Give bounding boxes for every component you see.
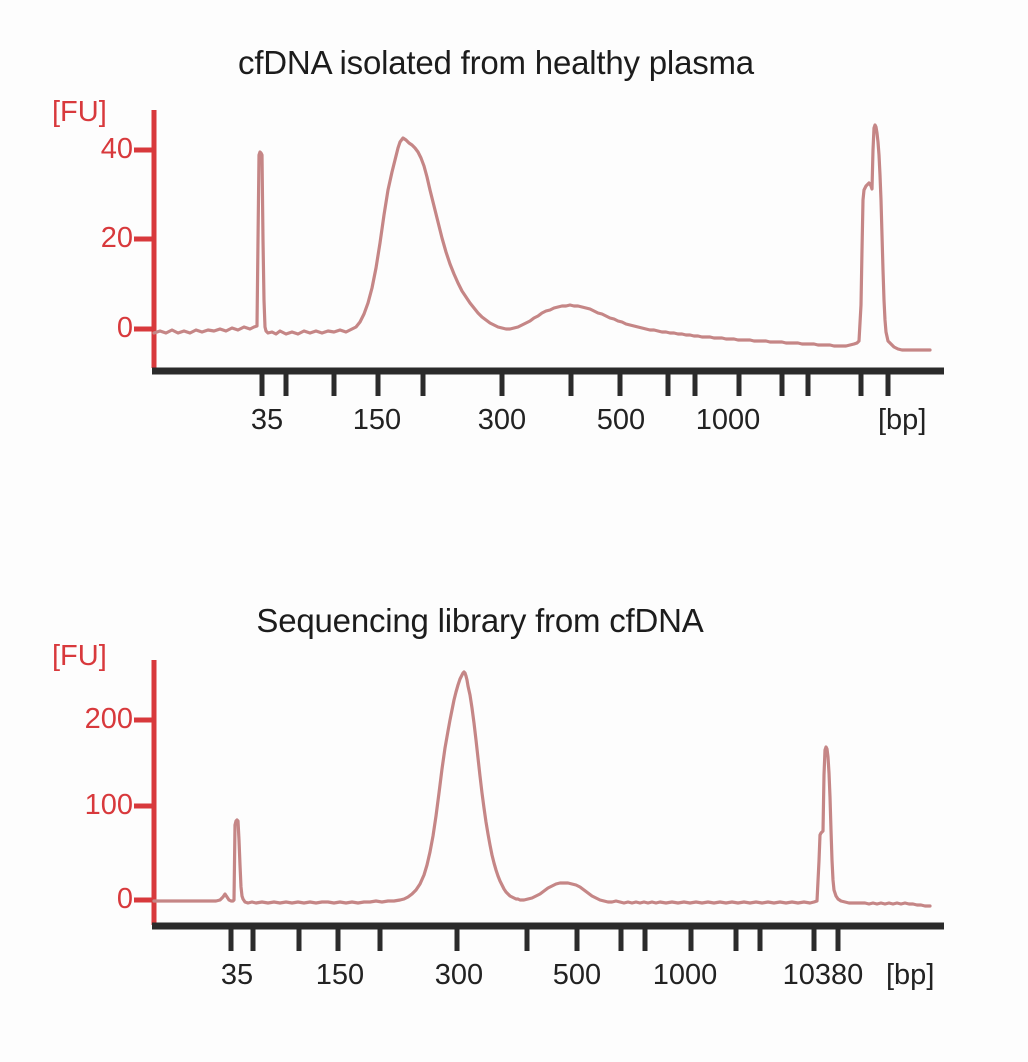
chart-panel-cfdna: cfDNA isolated from healthy plasma [FU] … xyxy=(0,0,1028,520)
x-tick-label-150-1: 150 xyxy=(331,404,423,437)
chart-panel-library: Sequencing library from cfDNA [FU] 200 1… xyxy=(0,545,1028,1062)
x-tick-label-500-2: 500 xyxy=(531,959,623,992)
x-tick-label-150-2: 150 xyxy=(294,959,386,992)
x-tick-label-1000-2: 1000 xyxy=(627,959,743,992)
x-tick-label-1000-1: 1000 xyxy=(670,404,786,437)
trace-line-2 xyxy=(154,672,930,906)
x-tick-group-2 xyxy=(231,929,838,951)
figure-page: cfDNA isolated from healthy plasma [FU] … xyxy=(0,0,1028,1062)
x-tick-label-35-1: 35 xyxy=(227,404,307,437)
x-tick-label-35-2: 35 xyxy=(197,959,277,992)
trace-line-1 xyxy=(154,125,930,350)
x-tick-label-500-1: 500 xyxy=(575,404,667,437)
x-axis-unit-2: [bp] xyxy=(886,959,934,992)
x-tick-label-10380-2: 10380 xyxy=(755,959,891,992)
x-tick-group-1 xyxy=(262,374,888,396)
x-tick-label-300-1: 300 xyxy=(456,404,548,437)
x-tick-label-300-2: 300 xyxy=(413,959,505,992)
electropherogram-plot-1 xyxy=(0,0,1028,520)
x-axis-unit-1: [bp] xyxy=(878,404,926,437)
